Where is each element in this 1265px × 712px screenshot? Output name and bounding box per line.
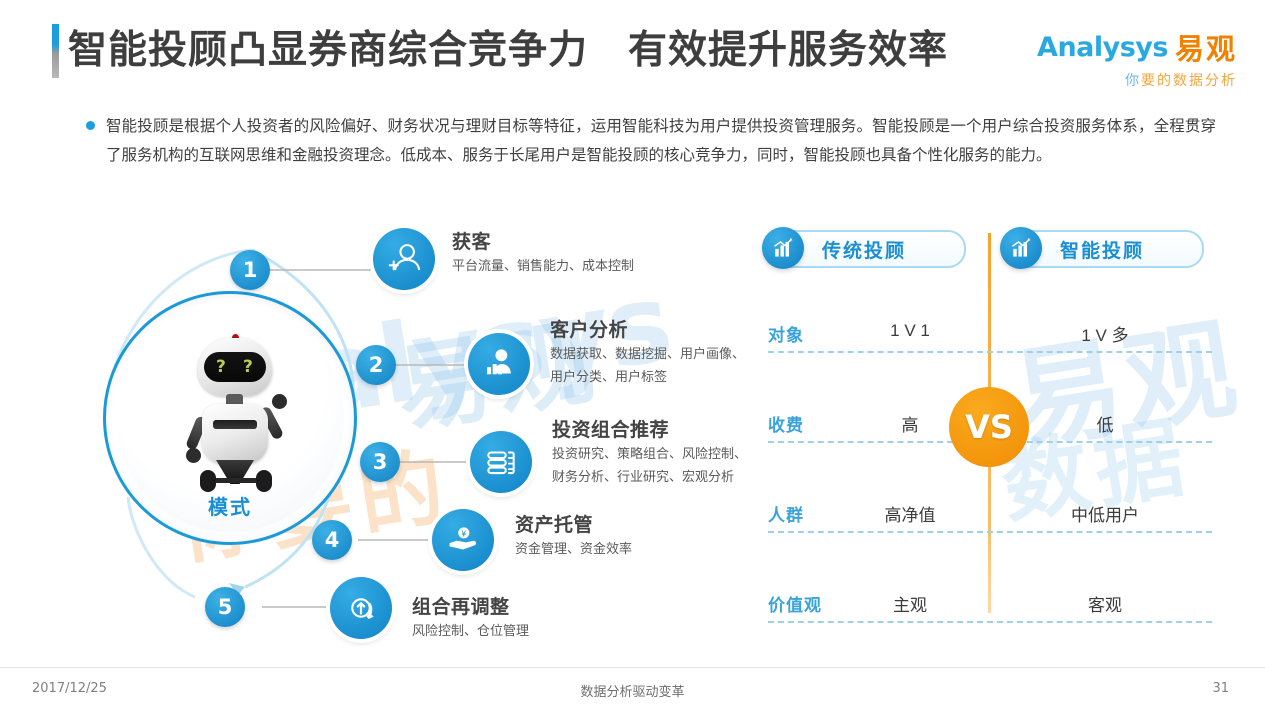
step-badge-4[interactable]: 4 (312, 520, 352, 560)
node-subtitle-portfolio-line1: 投资研究、策略组合、风险控制、 (552, 443, 747, 465)
logo-chinese-name: 易观 (1175, 26, 1237, 68)
vs-badge: VS (949, 387, 1029, 467)
node-caption-rebalance: 组合再调整 风险控制、仓位管理 (412, 592, 529, 642)
comparison-header-traditional[interactable]: 传统投顾 (772, 230, 966, 268)
lead-paragraph: 智能投顾是根据个人投资者的风险偏好、财务状况与理财目标等特征，运用智能科技为用户… (86, 112, 1216, 170)
logo-tagline-rest: 要的数据分析 (1141, 72, 1237, 88)
bar-chart-icon (771, 236, 795, 260)
robot-axle (211, 478, 259, 483)
row-label-1: 对象 (768, 321, 804, 346)
robot-visor (204, 352, 266, 382)
logo-tagline-first: 你 (1125, 72, 1141, 88)
node-subtitle-portfolio-line2: 财务分析、行业研究、宏观分析 (552, 466, 747, 488)
bar-chart-icon-right (1000, 227, 1042, 269)
page-header: 智能投顾凸显券商综合竞争力 有效提升服务效率 Analysys 易观 你要的数据… (0, 0, 1265, 95)
brand-logo: Analysys 易观 你要的数据分析 (1037, 26, 1237, 90)
node-title-portfolio: 投资组合推荐 (552, 415, 747, 442)
node-title-rebalance: 组合再调整 (412, 592, 529, 619)
page-title: 智能投顾凸显券商综合竞争力 有效提升服务效率 (68, 22, 948, 80)
robot-eye-right: ? (243, 352, 253, 382)
row-left-3: 高净值 (840, 501, 980, 526)
step-badge-1[interactable]: 1 (230, 250, 270, 290)
page-footer: 2017/12/25 数据分析驱动变革 31 (0, 667, 1265, 712)
row-left-4: 主观 (840, 591, 980, 616)
row-label-2: 收费 (768, 411, 804, 436)
row-right-1: 1 V 多 (1010, 321, 1200, 346)
row-right-4: 客观 (1010, 591, 1200, 616)
footer-page-number: 31 (1212, 681, 1229, 696)
row-left-1: 1 V 1 (840, 321, 980, 341)
node-subtitle-asset-custody: 资金管理、资金效率 (515, 538, 632, 560)
add-user-icon (385, 240, 423, 278)
comparison-table: 传统投顾 智能投顾 对象 1 V 1 1 V 多 收费 高 低 人群 高净值 中… (760, 225, 1220, 635)
comparison-header-smart[interactable]: 智能投顾 (1010, 230, 1204, 268)
hand-coin-icon: ¥ (444, 521, 482, 559)
robot-illustration: ? ? (180, 332, 290, 492)
robot-body (202, 404, 268, 464)
row-right-2: 低 (1010, 411, 1200, 436)
node-caption-customer-analysis: 客户分析 数据获取、数据挖掘、用户画像、 用户分类、用户标签 (550, 315, 745, 388)
node-title-acquisition: 获客 (452, 227, 634, 254)
step-badge-5[interactable]: 5 (205, 587, 245, 627)
row-separator-1 (768, 351, 1212, 353)
robot-hand-right (272, 394, 287, 409)
step-badge-2[interactable]: 2 (356, 345, 396, 385)
node-icon-rebalance[interactable] (330, 577, 392, 639)
bar-chart-icon (1009, 236, 1033, 260)
svg-text:¥: ¥ (461, 529, 466, 538)
row-right-3: 中低用户 (1010, 501, 1200, 526)
logo-wordmark: Analysys (1037, 32, 1168, 63)
table-row: 人群 高净值 中低用户 (760, 483, 1220, 567)
robot-wheel-right (256, 470, 272, 492)
node-caption-portfolio: 投资组合推荐 投资研究、策略组合、风险控制、 财务分析、行业研究、宏观分析 (552, 415, 747, 488)
process-diagram: ? ? 模式 1 2 3 4 5 获客 平台流量、销售能力、成本控制 (40, 205, 750, 665)
robot-hand-left (186, 448, 201, 463)
logo-tagline: 你要的数据分析 (1037, 70, 1237, 90)
lead-paragraph-text: 智能投顾是根据个人投资者的风险偏好、财务状况与理财目标等特征，运用智能科技为用户… (106, 112, 1216, 170)
robot-chest-slot (213, 420, 257, 429)
node-subtitle-acquisition: 平台流量、销售能力、成本控制 (452, 255, 634, 277)
node-title-asset-custody: 资产托管 (515, 510, 632, 537)
robot-wheel-left (200, 470, 216, 492)
row-separator-3 (768, 531, 1212, 533)
refresh-cycle-icon (342, 589, 380, 627)
node-icon-portfolio[interactable] (470, 431, 532, 493)
node-caption-asset-custody: 资产托管 资金管理、资金效率 (515, 510, 632, 560)
title-accent-bar (52, 24, 59, 78)
node-icon-acquisition[interactable] (373, 228, 435, 290)
bar-chart-icon-left (762, 227, 804, 269)
table-row: 价值观 主观 客观 (760, 573, 1220, 657)
center-label: 模式 (106, 491, 354, 520)
portfolio-list-icon (482, 443, 520, 481)
row-label-3: 人群 (768, 501, 804, 526)
table-row: 对象 1 V 1 1 V 多 (760, 303, 1220, 387)
robot-eye-left: ? (216, 352, 226, 382)
node-subtitle-rebalance: 风险控制、仓位管理 (412, 620, 529, 642)
bullet-dot-icon (86, 121, 95, 130)
step-badge-3[interactable]: 3 (360, 442, 400, 482)
row-separator-4 (768, 621, 1212, 623)
node-title-customer-analysis: 客户分析 (550, 315, 745, 342)
center-mode-circle: ? ? 模式 (103, 291, 357, 545)
row-label-4: 价值观 (768, 591, 822, 616)
node-caption-acquisition: 获客 平台流量、销售能力、成本控制 (452, 227, 634, 277)
node-icon-customer-analysis[interactable] (468, 333, 530, 395)
footer-slogan: 数据分析驱动变革 (0, 681, 1265, 700)
node-icon-asset-custody[interactable]: ¥ (432, 509, 494, 571)
user-chart-icon (480, 345, 518, 383)
node-subtitle-customer-analysis-line2: 用户分类、用户标签 (550, 366, 745, 388)
node-subtitle-customer-analysis-line1: 数据获取、数据挖掘、用户画像、 (550, 343, 745, 365)
